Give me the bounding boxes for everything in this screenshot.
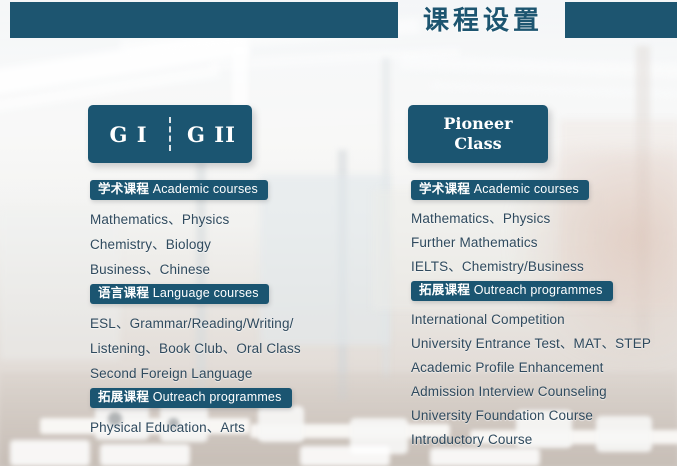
card-label-pioneer-line2: Class: [454, 134, 501, 154]
card-split-wrap: G I G II: [88, 105, 252, 163]
course-item: Further Mathematics: [411, 231, 661, 255]
course-item: ESL、Grammar/Reading/Writing/: [90, 311, 350, 336]
badge-label-en: Academic courses: [153, 182, 258, 196]
course-item: Second Foreign Language: [90, 361, 350, 386]
course-item: Academic Profile Enhancement: [411, 356, 661, 380]
course-item: University Foundation Course: [411, 404, 661, 428]
section-badge-academic: 学术课程 Academic courses: [411, 180, 589, 200]
section-badge-academic: 学术课程 Academic courses: [90, 180, 268, 200]
header-bar-right: [565, 2, 677, 38]
card-label-pioneer-line1: Pioneer: [443, 114, 512, 134]
section-badge-language: 语言课程 Language courses: [90, 284, 269, 304]
course-group-academic: 学术课程 Academic courses Mathematics、Physic…: [411, 180, 661, 279]
badge-label-en: Outreach programmes: [474, 283, 603, 297]
course-group-outreach: 拓展课程 Outreach programmes International C…: [411, 281, 661, 452]
course-column-gi-gii: 学术课程 Academic courses Mathematics、Physic…: [90, 180, 350, 442]
course-item: Business、Chinese: [90, 257, 350, 282]
badge-row: 语言课程 Language courses: [90, 284, 350, 306]
course-item: Chemistry、Biology: [90, 232, 350, 257]
course-group-language: 语言课程 Language courses ESL、Grammar/Readin…: [90, 284, 350, 386]
section-badge-outreach: 拓展课程 Outreach programmes: [411, 281, 613, 301]
badge-label-cn: 学术课程: [419, 182, 470, 196]
card-label-gi: G I: [88, 122, 169, 147]
page-title: 课程设置: [400, 0, 566, 42]
card-label-gii: G II: [171, 122, 252, 147]
course-item: IELTS、Chemistry/Business: [411, 255, 661, 279]
chair: [300, 446, 390, 466]
course-group-outreach: 拓展课程 Outreach programmes Physical Educat…: [90, 388, 350, 440]
course-column-pioneer: 学术课程 Academic courses Mathematics、Physic…: [411, 180, 661, 454]
card-pioneer-class: Pioneer Class: [408, 105, 548, 163]
course-item: Introductory Course: [411, 428, 661, 452]
course-item: Mathematics、Physics: [411, 207, 661, 231]
slide-root: 课程设置 G I G II Pioneer Class 学术课程 Academi…: [0, 0, 677, 466]
badge-row: 拓展课程 Outreach programmes: [411, 281, 661, 303]
course-item: Mathematics、Physics: [90, 207, 350, 232]
badge-label-cn: 语言课程: [98, 286, 149, 300]
section-badge-outreach: 拓展课程 Outreach programmes: [90, 388, 292, 408]
course-group-academic: 学术课程 Academic courses Mathematics、Physic…: [90, 180, 350, 282]
badge-label-cn: 拓展课程: [98, 390, 149, 404]
badge-label-en: Academic courses: [474, 182, 579, 196]
badge-label-cn: 拓展课程: [419, 283, 470, 297]
course-item: Physical Education、Arts: [90, 415, 350, 440]
course-item: Listening、Book Club、Oral Class: [90, 336, 350, 361]
badge-label-en: Outreach programmes: [153, 390, 282, 404]
course-item: Admission Interview Counseling: [411, 380, 661, 404]
card-gi-gii: G I G II: [88, 105, 252, 163]
header-bar-left: [10, 2, 398, 38]
chair: [100, 444, 190, 466]
badge-label-en: Language courses: [153, 286, 259, 300]
chair: [10, 440, 90, 466]
badge-row: 学术课程 Academic courses: [411, 180, 661, 202]
badge-row: 学术课程 Academic courses: [90, 180, 350, 202]
course-item: University Entrance Test、MAT、STEP: [411, 332, 661, 356]
badge-label-cn: 学术课程: [98, 182, 149, 196]
badge-row: 拓展课程 Outreach programmes: [90, 388, 350, 410]
course-item: International Competition: [411, 308, 661, 332]
